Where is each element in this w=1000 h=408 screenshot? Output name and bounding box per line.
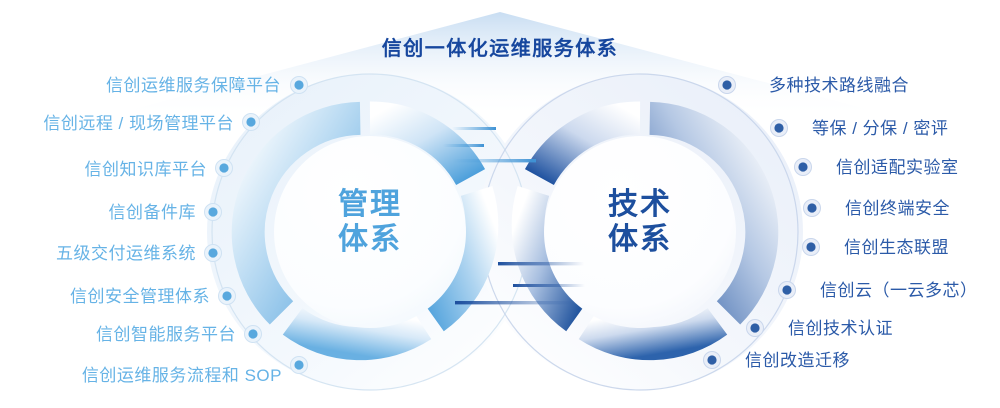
left-item-3[interactable]: 信创备件库 <box>109 204 197 221</box>
hub-left-label: 管理 体系 <box>290 187 450 258</box>
page-title: 信创一体化运维服务体系 <box>0 32 1000 61</box>
hub-right-label: 技术 体系 <box>560 187 720 258</box>
right-item-3[interactable]: 信创终端安全 <box>845 200 950 217</box>
left-item-1[interactable]: 信创远程 / 现场管理平台 <box>43 115 234 132</box>
right-item-4[interactable]: 信创生态联盟 <box>844 239 949 256</box>
infographic-canvas: 信创一体化运维服务体系 管理 体系 技术 体系 信创运维服务保障平台 信创远程 … <box>0 0 1000 408</box>
right-item-7[interactable]: 信创改造迁移 <box>745 352 850 369</box>
left-item-4[interactable]: 五级交付运维系统 <box>56 245 196 262</box>
left-item-2[interactable]: 信创知识库平台 <box>85 161 208 178</box>
hub-right-line1: 技术 <box>560 187 720 222</box>
right-item-5[interactable]: 信创云（一云多芯） <box>820 282 978 299</box>
right-item-0[interactable]: 多种技术路线融合 <box>769 77 909 94</box>
left-item-0[interactable]: 信创运维服务保障平台 <box>106 77 281 94</box>
hub-left-line2: 体系 <box>290 222 450 257</box>
left-item-7[interactable]: 信创运维服务流程和 SOP <box>82 367 282 384</box>
left-item-5[interactable]: 信创安全管理体系 <box>70 288 210 305</box>
hub-right-line2: 体系 <box>560 222 720 257</box>
hub-left-line1: 管理 <box>290 187 450 222</box>
left-item-6[interactable]: 信创智能服务平台 <box>96 326 236 343</box>
right-item-6[interactable]: 信创技术认证 <box>788 320 893 337</box>
right-item-1[interactable]: 等保 / 分保 / 密评 <box>812 120 948 137</box>
right-item-2[interactable]: 信创适配实验室 <box>836 159 959 176</box>
